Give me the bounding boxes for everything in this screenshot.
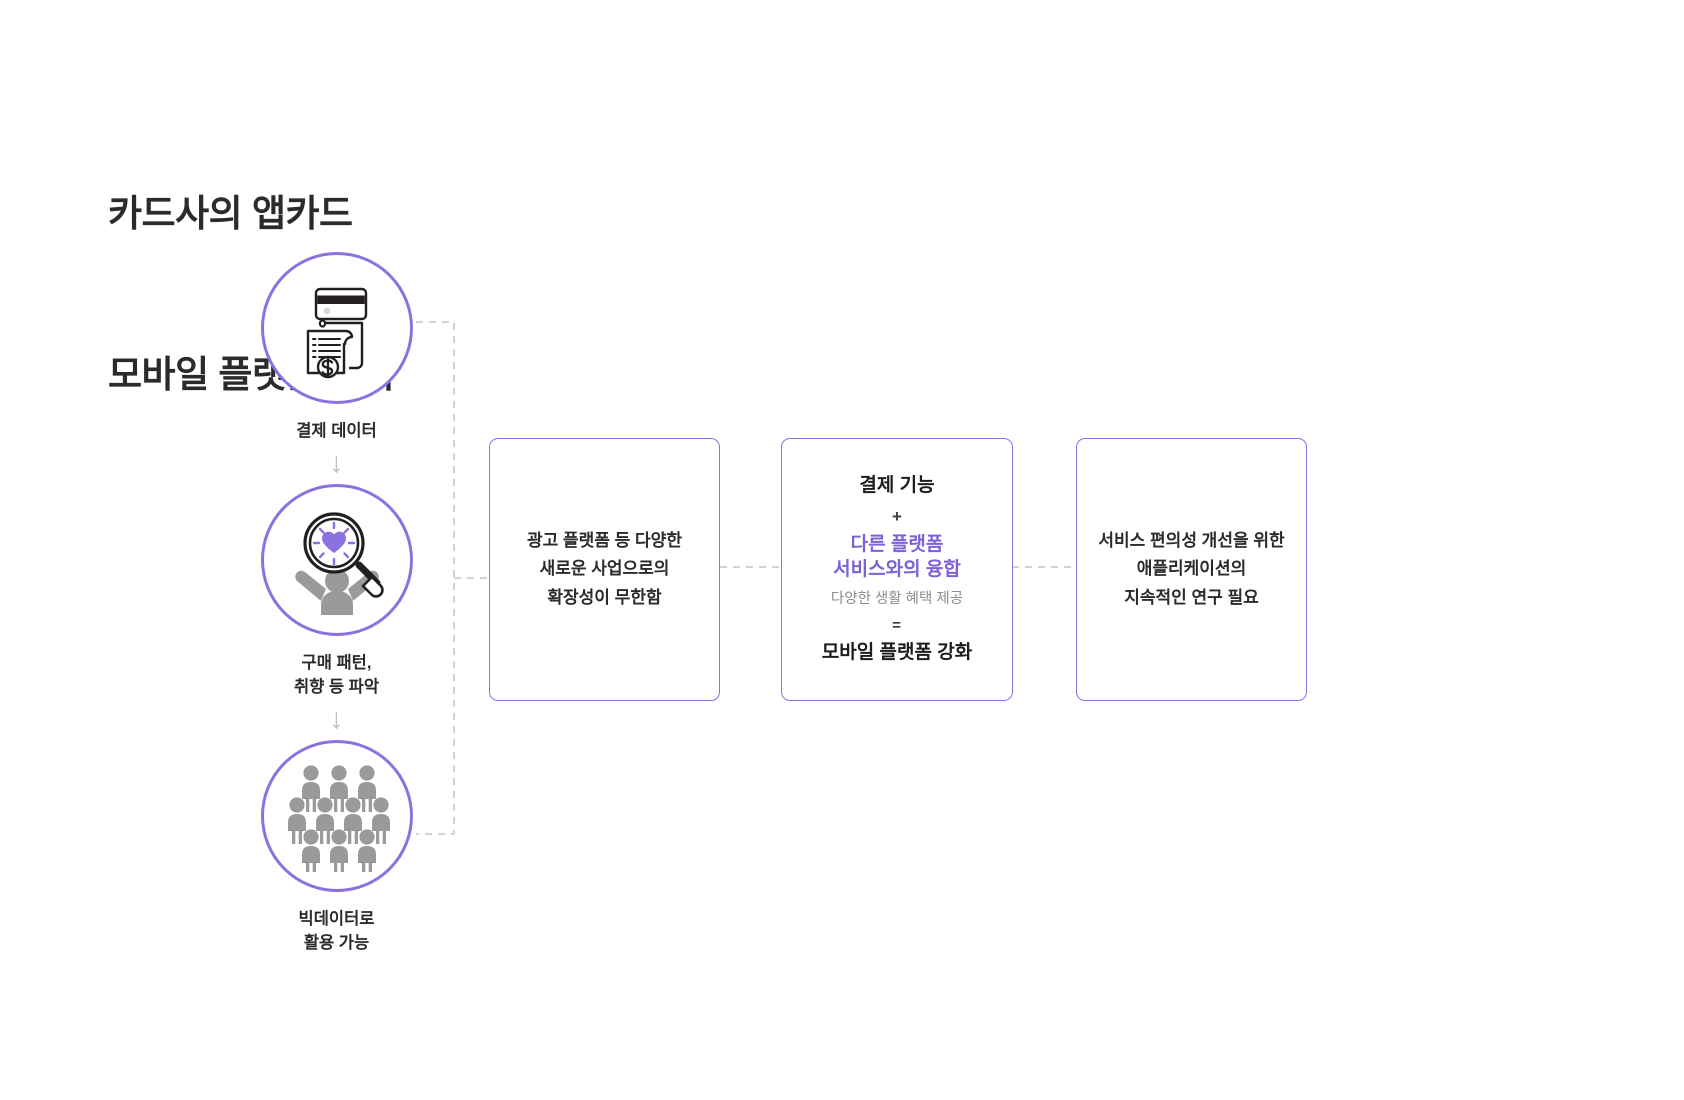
icon-node-big-data: 빅데이터로 활용 가능: [254, 740, 419, 956]
icon-label-big-data: 빅데이터로 활용 가능: [299, 908, 375, 956]
magnifier-heart-person-icon: [261, 484, 413, 636]
content-box-convergence: 결제 기능 + 다른 플랫폼 서비스와의 융합 다양한 생활 혜택 제공 = 모…: [781, 438, 1013, 701]
icon-node-purchase-pattern: 구매 패턴, 취향 등 파악: [254, 484, 419, 700]
dashed-connector-box2-box3: [1012, 566, 1076, 568]
convergence-subtext: 다양한 생활 혜택 제공: [831, 590, 963, 609]
content-box-expansion: 광고 플랫폼 등 다양한 새로운 사업으로의 확장성이 무한함: [489, 438, 720, 701]
content-box-research-text: 서비스 편의성 개선을 위한 애플리케이션의 지속적인 연구 필요: [1098, 527, 1284, 611]
content-box-research: 서비스 편의성 개선을 위한 애플리케이션의 지속적인 연구 필요: [1076, 438, 1307, 701]
down-arrow-icon-2: ↓: [254, 700, 419, 740]
convergence-accent-text: 다른 플랫폼 서비스와의 융합: [833, 532, 961, 582]
dashed-bracket-connector: [416, 318, 492, 838]
down-arrow-icon-1: ↓: [254, 444, 419, 484]
credit-card-receipt-icon: [261, 252, 413, 404]
convergence-equals-sign: =: [892, 618, 902, 633]
content-box-expansion-text: 광고 플랫폼 등 다양한 새로운 사업으로의 확장성이 무한함: [527, 527, 682, 611]
icon-label-payment-data: 결제 데이터: [296, 420, 376, 444]
icon-label-purchase-pattern: 구매 패턴, 취향 등 파악: [294, 652, 379, 700]
convergence-plus-sign: +: [892, 508, 902, 525]
icon-column: 결제 데이터 ↓: [254, 252, 419, 956]
convergence-payment-function: 결제 기능: [859, 474, 934, 499]
convergence-result-text: 모바일 플랫폼 강화: [822, 641, 972, 666]
page-title-line-1: 카드사의 앱카드: [108, 187, 396, 241]
crowd-people-icon: [261, 740, 413, 892]
dashed-connector-box1-box2: [720, 566, 782, 568]
icon-node-payment-data: 결제 데이터: [254, 252, 419, 444]
